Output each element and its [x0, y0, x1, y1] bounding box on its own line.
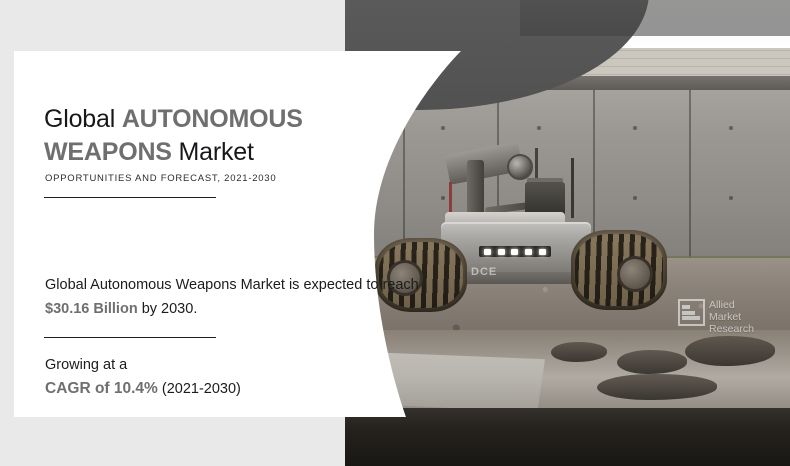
- wall-bolt: [633, 126, 637, 130]
- cagr-value: CAGR of 10.4%: [45, 380, 158, 397]
- watermark-text: Allied Market Research: [709, 299, 754, 335]
- cagr-block: Growing at aCAGR of 10.4% (2021-2030): [45, 353, 385, 401]
- led-light-bar: [479, 246, 551, 257]
- cagr-lead: Growing at a: [45, 357, 127, 373]
- antenna-tall: [571, 158, 574, 218]
- allied-market-research-logo-icon: [678, 299, 705, 326]
- market-summary: Global Autonomous Weapons Market is expe…: [45, 273, 419, 321]
- divider-bottom: [44, 337, 216, 338]
- dark-overlay-strip: [520, 0, 790, 36]
- watermark: Allied Market Research: [678, 299, 774, 343]
- watermark-line-2: Market: [709, 311, 754, 323]
- mud-lump: [597, 374, 717, 400]
- divider-top: [44, 197, 216, 198]
- wall-bolt: [537, 126, 541, 130]
- wall-bolt: [729, 196, 733, 200]
- watermark-line-3: Research: [709, 323, 754, 335]
- cagr-period: (2021-2030): [158, 381, 241, 397]
- summary-part-2: by 2030.: [138, 301, 198, 317]
- title-part-1: Global: [44, 105, 122, 133]
- market-value: $30.16 Billion: [45, 301, 138, 317]
- ugv-badge: DCE: [471, 266, 511, 279]
- summary-part-1: Global Autonomous Weapons Market is expe…: [45, 277, 419, 293]
- track-right: [571, 230, 667, 310]
- camera-lens-icon: [507, 154, 533, 180]
- mud-lump: [617, 350, 687, 374]
- card-content: Global AUTONOMOUS WEAPONS Market OPPORTU…: [14, 51, 464, 417]
- wall-seam: [689, 90, 691, 264]
- page-title: Global AUTONOMOUS WEAPONS Market: [44, 103, 344, 169]
- infographic-banner: DCE Allied Market Research: [0, 0, 790, 466]
- mud-lump: [551, 342, 607, 362]
- title-part-2: Market: [172, 138, 254, 166]
- wall-bolt: [729, 126, 733, 130]
- watermark-line-1: Allied: [709, 299, 754, 311]
- page-subtitle: OPPORTUNITIES AND FORECAST, 2021-2030: [45, 173, 276, 184]
